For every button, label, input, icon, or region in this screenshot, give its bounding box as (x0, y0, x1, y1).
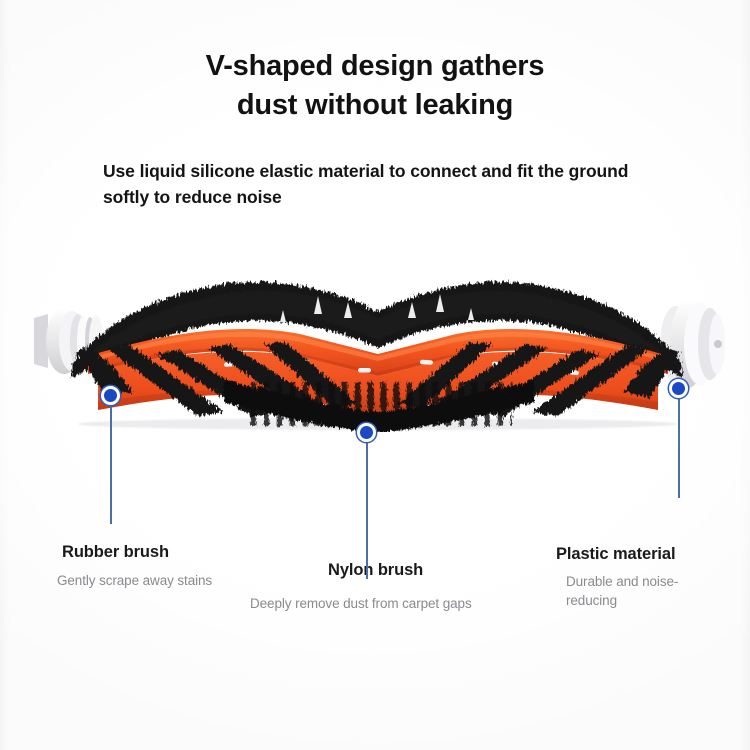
callout-leader-line-nylon (366, 439, 368, 579)
subtitle-text: Use liquid silicone elastic material to … (103, 158, 663, 211)
callout-marker-dot-plastic[interactable] (669, 379, 688, 398)
callout-marker-dot-rubber[interactable] (101, 386, 120, 405)
headline-line-1: V-shaped design gathers (206, 50, 545, 82)
product-image (28, 252, 728, 432)
callout-leader-line-rubber (110, 402, 112, 524)
callout-title-plastic: Plastic material (556, 545, 675, 564)
roller-brush-illustration (28, 252, 728, 432)
right-end-cap (660, 300, 725, 388)
callout-title-rubber: Rubber brush (62, 543, 169, 562)
callout-title-nylon: Nylon brush (328, 561, 423, 580)
callout-description-nylon: Deeply remove dust from carpet gaps (250, 595, 520, 614)
page-title: V-shaped design gathers dust without lea… (0, 47, 750, 124)
callout-description-plastic: Durable and noise-reducing (566, 573, 706, 610)
infographic-page: V-shaped design gathers dust without lea… (0, 0, 750, 750)
nylon-bristle-fringe (224, 380, 534, 432)
callout-leader-line-plastic (678, 395, 680, 498)
callout-description-rubber: Gently scrape away stains (57, 572, 297, 591)
callout-marker-dot-nylon[interactable] (357, 423, 376, 442)
headline-line-2: dust without leaking (0, 86, 750, 124)
